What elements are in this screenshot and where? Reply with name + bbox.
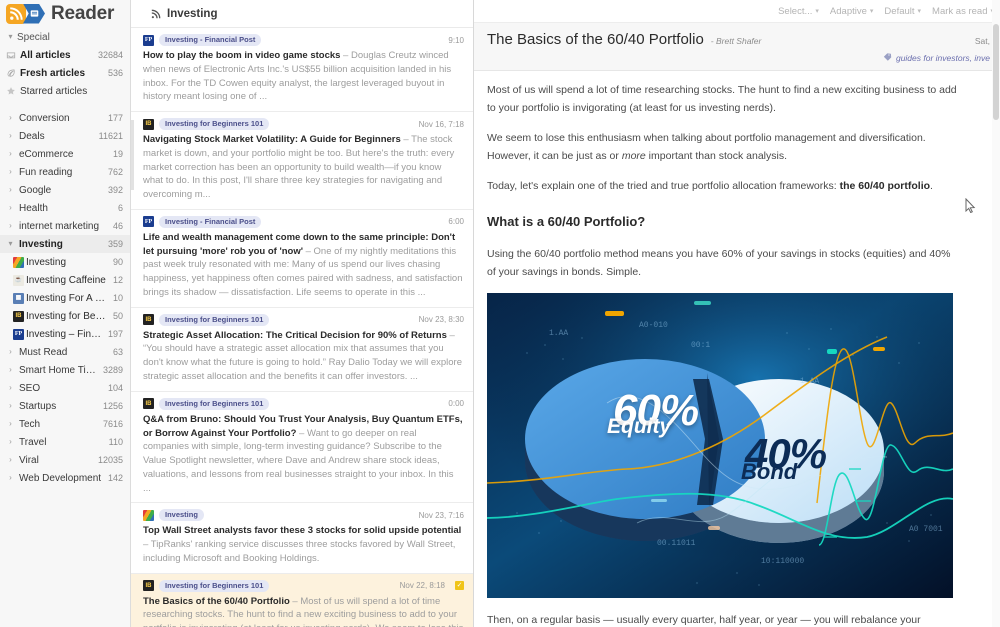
chevron-right-icon: › bbox=[4, 114, 17, 122]
living-favicon-icon: ▦ bbox=[13, 293, 24, 304]
sidebar-item-seo[interactable]: › SEO 104 bbox=[0, 379, 130, 397]
beginners-icon: IB bbox=[143, 398, 154, 409]
sidebar-item-fun-reading[interactable]: › Fun reading 762 bbox=[0, 163, 130, 181]
chevron-right-icon: › bbox=[4, 348, 17, 356]
chevron-right-icon: › bbox=[4, 204, 17, 212]
sidebar-item-all-articles[interactable]: All articles 32684 bbox=[0, 46, 130, 64]
sidebar-item-investing-for-beginners-label: Investing for Beginners... bbox=[24, 311, 113, 322]
article-item-body: Q&A from Bruno: Should You Trust Your An… bbox=[143, 413, 464, 496]
beginners-icon: IB bbox=[143, 119, 154, 130]
mark-as-read-label: Mark as read bbox=[932, 6, 987, 17]
article-list-item[interactable]: FPInvesting - Financial Post9:10How to p… bbox=[131, 28, 473, 112]
sidebar-item-fresh-articles[interactable]: Fresh articles 536 bbox=[0, 64, 130, 82]
select-dropdown[interactable]: Select... ▾ bbox=[778, 6, 819, 17]
article-timestamp: 9:10 bbox=[448, 36, 464, 45]
sidebar-item-investing-msn-label: Investing bbox=[24, 257, 113, 268]
article-feed-badge[interactable]: Investing bbox=[159, 509, 204, 521]
chevron-down-icon: ▾ bbox=[4, 33, 17, 41]
beginners-icon: IB bbox=[143, 580, 154, 591]
sidebar-item-smart-home-times-count: 3289 bbox=[103, 365, 130, 375]
chevron-down-icon: ▾ bbox=[4, 240, 17, 248]
article-list-item[interactable]: IBInvesting for Beginners 101Nov 23, 8:3… bbox=[131, 308, 473, 392]
chevron-right-icon: › bbox=[4, 420, 17, 428]
sidebar-item-investing-for-a-living[interactable]: ▦ Investing For A Living 10 bbox=[0, 289, 130, 307]
reader-app: Reader ▾ Special All articles 32684 Fres… bbox=[0, 0, 1000, 627]
fp-icon: FP bbox=[143, 216, 154, 227]
article-list-item[interactable]: InvestingNov 23, 7:16Top Wall Street ana… bbox=[131, 503, 473, 573]
chevron-down-icon: ▾ bbox=[870, 7, 874, 15]
list-scroll-indicator[interactable] bbox=[131, 120, 134, 190]
article-feed-badge[interactable]: Investing - Financial Post bbox=[159, 216, 261, 228]
article-item-meta: InvestingNov 23, 7:16 bbox=[143, 509, 464, 521]
reader-scrollbar-track[interactable] bbox=[992, 0, 1000, 627]
sidebar-item-starred-articles[interactable]: Starred articles bbox=[0, 82, 130, 100]
article-feed-badge[interactable]: Investing for Beginners 101 bbox=[159, 580, 269, 592]
chart-annotation-6: 1.AA bbox=[800, 375, 819, 389]
article-item-title[interactable]: Strategic Asset Allocation: The Critical… bbox=[143, 330, 447, 341]
sidebar-item-all-articles-label: All articles bbox=[18, 50, 98, 61]
inbox-icon bbox=[4, 50, 18, 60]
article-item-body: Life and wealth management come down to … bbox=[143, 231, 464, 300]
article-item-title[interactable]: Navigating Stock Market Volatility: A Gu… bbox=[143, 134, 401, 145]
chart-annotation-2: A0-010 bbox=[639, 319, 668, 333]
select-dropdown-label: Select... bbox=[778, 6, 812, 17]
rss-icon bbox=[151, 9, 161, 19]
article-paragraph-3: Today, let's explain one of the tried an… bbox=[487, 177, 960, 195]
article-list-item[interactable]: IBInvesting for Beginners 1010:00Q&A fro… bbox=[131, 392, 473, 504]
article-timestamp: 6:00 bbox=[448, 217, 464, 226]
article-read-checkbox[interactable]: ✓ bbox=[455, 581, 464, 590]
article-list-item[interactable]: IBInvesting for Beginners 101Nov 16, 7:1… bbox=[131, 112, 473, 210]
article-paragraph-4: Using the 60/40 portfolio method means y… bbox=[487, 245, 960, 281]
sidebar-item-investing-for-a-living-label: Investing For A Living bbox=[24, 293, 113, 304]
sidebar-item-deals[interactable]: › Deals 11621 bbox=[0, 127, 130, 145]
sidebar-item-internet-marketing-count: 46 bbox=[113, 221, 130, 231]
sidebar-item-smart-home-times-label: Smart Home Times bbox=[17, 365, 103, 376]
sidebar-item-investing-label: Investing bbox=[17, 239, 108, 250]
sidebar-item-investing-msn-count: 90 bbox=[113, 257, 130, 267]
sidebar-item-investing-financial-post[interactable]: FP Investing – Financial ... 197 bbox=[0, 325, 130, 343]
article-paragraph-5: Then, on a regular basis — usually every… bbox=[487, 611, 960, 627]
sidebar-item-google[interactable]: › Google 392 bbox=[0, 181, 130, 199]
chevron-right-icon: › bbox=[4, 384, 17, 392]
sidebar-item-investing-msn[interactable]: Investing 90 bbox=[0, 253, 130, 271]
article-tags[interactable]: guides for investors, inve bbox=[896, 53, 990, 63]
article-item-body: Strategic Asset Allocation: The Critical… bbox=[143, 329, 464, 384]
article-timestamp: Nov 23, 8:30 bbox=[419, 315, 464, 324]
article-item-snippet: – TipRanks' ranking service discusses th… bbox=[143, 539, 455, 564]
sidebar-group-special-label: Special bbox=[17, 32, 50, 43]
article-subheading: What is a 60/40 Portfolio? bbox=[487, 211, 960, 233]
sidebar-item-travel-count: 110 bbox=[109, 437, 130, 447]
article-header: The Basics of the 60/40 Portfolio - Bret… bbox=[474, 23, 1000, 71]
sidebar-item-must-read-label: Must Read bbox=[17, 347, 113, 358]
sidebar-item-conversion[interactable]: › Conversion 177 bbox=[0, 109, 130, 127]
article-item-meta: IBInvesting for Beginners 101Nov 22, 8:1… bbox=[143, 580, 464, 592]
article-author: - Brett Shafer bbox=[711, 36, 762, 46]
brand-header[interactable]: Reader bbox=[0, 0, 130, 28]
sidebar-item-investing-for-beginners-count: 50 bbox=[113, 311, 130, 321]
reader-arrow-icon bbox=[23, 4, 45, 24]
sidebar-item-smart-home-times[interactable]: › Smart Home Times 3289 bbox=[0, 361, 130, 379]
brand-title: Reader bbox=[51, 3, 114, 25]
sidebar-item-ecommerce[interactable]: › eCommerce 19 bbox=[0, 145, 130, 163]
sidebar-nav: ▾ Special All articles 32684 Fresh artic… bbox=[0, 28, 130, 487]
sidebar-item-fresh-articles-label: Fresh articles bbox=[18, 68, 108, 79]
article-item-meta: FPInvesting - Financial Post6:00 bbox=[143, 216, 464, 228]
leaf-icon bbox=[4, 68, 18, 78]
article-header-row-tags: guides for investors, inve bbox=[487, 52, 990, 63]
article-header-row-title: The Basics of the 60/40 Portfolio - Bret… bbox=[487, 31, 990, 48]
article-item-meta: IBInvesting for Beginners 1010:00 bbox=[143, 398, 464, 410]
article-item-body: Top Wall Street analysts favor these 3 s… bbox=[143, 524, 464, 565]
list-header: Investing bbox=[131, 0, 473, 28]
list-header-title: Investing bbox=[167, 8, 217, 20]
sidebar-item-internet-marketing[interactable]: › internet marketing 46 bbox=[0, 217, 130, 235]
sidebar-item-starred-articles-label: Starred articles bbox=[18, 86, 123, 97]
article-item-title[interactable]: The Basics of the 60/40 Portfolio bbox=[143, 596, 290, 607]
star-icon bbox=[4, 86, 18, 96]
article-timestamp: 0:00 bbox=[448, 399, 464, 408]
chart-annotation-4: 00.11011 bbox=[657, 537, 695, 551]
sidebar-item-investing-financial-post-count: 197 bbox=[108, 329, 130, 339]
article-feed-badge[interactable]: Investing for Beginners 101 bbox=[159, 314, 269, 326]
sidebar-item-fresh-articles-count: 536 bbox=[108, 68, 130, 78]
sidebar-item-startups-count: 1256 bbox=[103, 401, 130, 411]
sidebar-item-startups-label: Startups bbox=[17, 401, 103, 412]
chevron-right-icon: › bbox=[4, 222, 17, 230]
article-body: Most of us will spend a lot of time rese… bbox=[474, 71, 1000, 627]
sidebar-item-investing-caffeine-count: 12 bbox=[113, 275, 130, 285]
caffeine-favicon-icon: ☕ bbox=[13, 275, 24, 286]
article-list-item[interactable]: FPInvesting - Financial Post6:00Life and… bbox=[131, 210, 473, 308]
chevron-right-icon: › bbox=[4, 438, 17, 446]
article-item-body: How to play the boom in video game stock… bbox=[143, 49, 464, 104]
default-dropdown[interactable]: Default ▾ bbox=[884, 6, 921, 17]
sidebar-item-fun-reading-count: 762 bbox=[108, 167, 130, 177]
article-list-item[interactable]: IBInvesting for Beginners 101Nov 22, 8:1… bbox=[131, 574, 473, 627]
sidebar-item-conversion-label: Conversion bbox=[17, 113, 108, 124]
chevron-right-icon: › bbox=[4, 132, 17, 140]
beginners-favicon-icon: IB bbox=[13, 311, 24, 322]
sidebar-item-deals-label: Deals bbox=[17, 131, 99, 142]
article-item-body: Navigating Stock Market Volatility: A Gu… bbox=[143, 133, 464, 202]
reader-pane: Select... ▾ Adaptive ▾ Default ▾ Mark as… bbox=[474, 0, 1000, 627]
default-dropdown-label: Default bbox=[884, 6, 914, 17]
sidebar-item-ecommerce-label: eCommerce bbox=[17, 149, 113, 160]
sidebar-item-web-development-count: 142 bbox=[108, 473, 130, 483]
chevron-right-icon: › bbox=[4, 456, 17, 464]
sidebar-item-investing-financial-post-label: Investing – Financial ... bbox=[24, 329, 108, 340]
msn-icon bbox=[143, 510, 154, 521]
sidebar-item-conversion-count: 177 bbox=[108, 113, 130, 123]
sidebar-item-viral-count: 12035 bbox=[98, 455, 130, 465]
sidebar-item-seo-count: 104 bbox=[108, 383, 130, 393]
article-list-pane[interactable]: Investing FPInvesting - Financial Post9:… bbox=[131, 0, 474, 627]
article-item-meta: IBInvesting for Beginners 101Nov 23, 8:3… bbox=[143, 314, 464, 326]
article-feed-badge[interactable]: Investing for Beginners 101 bbox=[159, 118, 269, 130]
sidebar-item-investing-caffeine-label: Investing Caffeine bbox=[24, 275, 113, 286]
sidebar-item-viral-label: Viral bbox=[17, 455, 98, 466]
fp-icon: FP bbox=[143, 35, 154, 46]
chart-annotation-3: 00:1 bbox=[691, 339, 710, 353]
sidebar-item-tech-count: 7616 bbox=[103, 419, 130, 429]
chart-annotation-5: 10:110000 bbox=[761, 555, 804, 569]
sidebar-item-fun-reading-label: Fun reading bbox=[17, 167, 108, 178]
article-item-body: The Basics of the 60/40 Portfolio – Most… bbox=[143, 595, 464, 627]
sidebar-item-all-articles-count: 32684 bbox=[98, 50, 130, 60]
sidebar-item-investing-for-a-living-count: 10 bbox=[113, 293, 130, 303]
sidebar-item-investing[interactable]: ▾ Investing 359 bbox=[0, 235, 130, 253]
chevron-right-icon: › bbox=[4, 186, 17, 194]
article-timestamp: Nov 22, 8:18 bbox=[400, 581, 445, 590]
article-paragraph-1: Most of us will spend a lot of time rese… bbox=[487, 81, 960, 117]
reader-scrollbar-thumb[interactable] bbox=[993, 24, 999, 120]
article-feed-badge[interactable]: Investing - Financial Post bbox=[159, 34, 261, 46]
chevron-right-icon: › bbox=[4, 474, 17, 482]
chart-annotation-1: 1.AA bbox=[549, 327, 568, 341]
sidebar-item-startups[interactable]: › Startups 1256 bbox=[0, 397, 130, 415]
app-logo bbox=[6, 4, 45, 24]
sidebar-item-health-count: 6 bbox=[118, 203, 130, 213]
sidebar-item-google-count: 392 bbox=[108, 185, 130, 195]
article-item-title[interactable]: Top Wall Street analysts favor these 3 s… bbox=[143, 525, 461, 536]
article-paragraph-2: We seem to lose this enthusiasm when tal… bbox=[487, 129, 960, 165]
sidebar-item-google-label: Google bbox=[17, 185, 108, 196]
article-item-meta: IBInvesting for Beginners 101Nov 16, 7:1… bbox=[143, 118, 464, 130]
sidebar-item-investing-caffeine[interactable]: ☕ Investing Caffeine 12 bbox=[0, 271, 130, 289]
sidebar-item-must-read-count: 63 bbox=[113, 347, 130, 357]
sidebar-item-viral[interactable]: › Viral 12035 bbox=[0, 451, 130, 469]
sidebar-item-investing-count: 359 bbox=[108, 239, 130, 249]
chevron-down-icon: ▾ bbox=[918, 7, 922, 15]
chevron-right-icon: › bbox=[4, 366, 17, 374]
article-timestamp: Nov 16, 7:18 bbox=[419, 120, 464, 129]
fp-favicon-icon: FP bbox=[13, 329, 24, 340]
sidebar-item-health-label: Health bbox=[17, 203, 118, 214]
article-item-title[interactable]: How to play the boom in video game stock… bbox=[143, 50, 340, 61]
chevron-down-icon: ▾ bbox=[815, 7, 819, 15]
msn-favicon-icon bbox=[13, 257, 24, 268]
sidebar-item-investing-for-beginners[interactable]: IB Investing for Beginners... 50 bbox=[0, 307, 130, 325]
sidebar: Reader ▾ Special All articles 32684 Fres… bbox=[0, 0, 131, 627]
sidebar-item-tech[interactable]: › Tech 7616 bbox=[0, 415, 130, 433]
pie-chart-image: 1.AA A0-010 00:1 00.11011 10:110000 1.AA… bbox=[487, 293, 953, 598]
sidebar-group-special[interactable]: ▾ Special bbox=[0, 28, 130, 46]
tag-icon bbox=[883, 52, 892, 63]
beginners-icon: IB bbox=[143, 314, 154, 325]
sidebar-item-seo-label: SEO bbox=[17, 383, 108, 394]
article-item-meta: FPInvesting - Financial Post9:10 bbox=[143, 34, 464, 46]
article-feed-badge[interactable]: Investing for Beginners 101 bbox=[159, 398, 269, 410]
sidebar-item-ecommerce-count: 19 bbox=[113, 149, 130, 159]
sidebar-item-web-development[interactable]: › Web Development 142 bbox=[0, 469, 130, 487]
reader-toolbar: Select... ▾ Adaptive ▾ Default ▾ Mark as… bbox=[474, 0, 1000, 23]
chart-label-equity-name: Equity bbox=[607, 409, 671, 445]
chevron-right-icon: › bbox=[4, 402, 17, 410]
adaptive-dropdown[interactable]: Adaptive ▾ bbox=[830, 6, 874, 17]
chart-label-bond-name: Bond bbox=[741, 453, 797, 491]
sidebar-item-tech-label: Tech bbox=[17, 419, 103, 430]
sidebar-item-must-read[interactable]: › Must Read 63 bbox=[0, 343, 130, 361]
mouse-cursor-icon bbox=[965, 198, 976, 218]
mark-as-read-dropdown[interactable]: Mark as read ▾ bbox=[932, 6, 994, 17]
chart-annotation-7: A0 7001 bbox=[909, 523, 943, 537]
article-title: The Basics of the 60/40 Portfolio bbox=[487, 31, 704, 48]
sidebar-item-deals-count: 11621 bbox=[99, 131, 130, 141]
sidebar-item-travel-label: Travel bbox=[17, 437, 109, 448]
sidebar-item-web-development-label: Web Development bbox=[17, 473, 108, 484]
chevron-right-icon: › bbox=[4, 168, 17, 176]
article-list[interactable]: FPInvesting - Financial Post9:10How to p… bbox=[131, 28, 473, 627]
rss-logo-icon bbox=[6, 4, 26, 24]
chevron-right-icon: › bbox=[4, 150, 17, 158]
sidebar-item-travel[interactable]: › Travel 110 bbox=[0, 433, 130, 451]
sidebar-item-health[interactable]: › Health 6 bbox=[0, 199, 130, 217]
sidebar-divider bbox=[0, 100, 130, 109]
article-date: Sat, bbox=[975, 36, 990, 46]
sidebar-item-internet-marketing-label: internet marketing bbox=[17, 221, 113, 232]
adaptive-dropdown-label: Adaptive bbox=[830, 6, 867, 17]
article-timestamp: Nov 23, 7:16 bbox=[419, 511, 464, 520]
